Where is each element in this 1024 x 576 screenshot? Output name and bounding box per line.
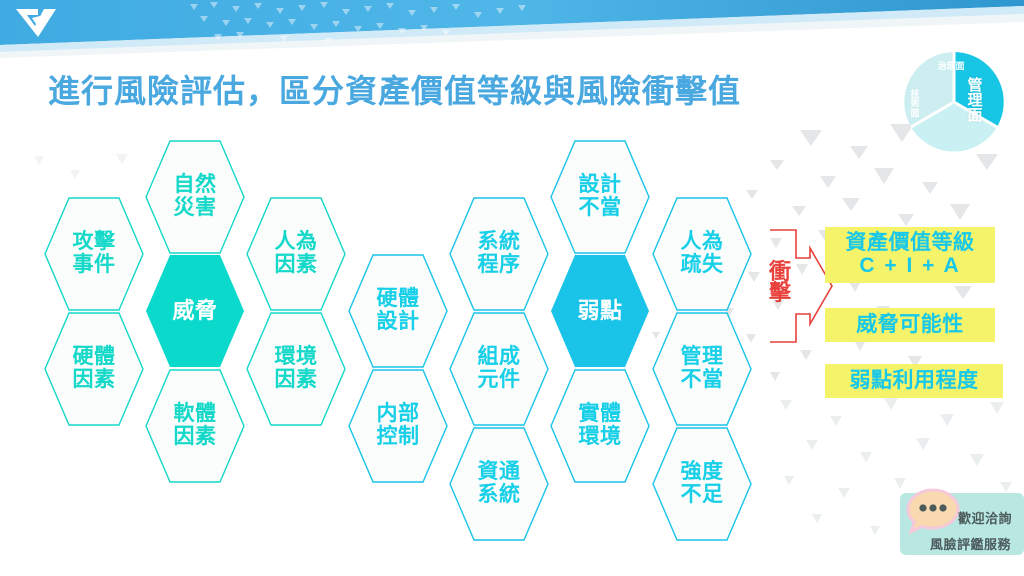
hex-label-improper-design: 設計不當 xyxy=(579,174,622,219)
hex-human-factor[interactable]: 人為因素 xyxy=(246,197,346,311)
hex-hardware-design[interactable]: 硬體設計 xyxy=(348,254,448,368)
hex-label-attack-event: 攻擊事件 xyxy=(73,231,116,276)
hex-label-natural-disaster: 自然災害 xyxy=(174,174,217,219)
hex-physical-environment[interactable]: 實體環境 xyxy=(550,369,650,483)
hex-label-internal-control: 内部控制 xyxy=(377,403,420,448)
hex-insufficient-strength[interactable]: 強度不足 xyxy=(652,427,752,541)
impact-label: 衝擊 xyxy=(768,262,792,304)
hex-label-ict-system: 資通系統 xyxy=(478,461,521,506)
outcome-box-threat-likelihood: 威脅可能性 xyxy=(825,308,995,342)
chat-bubble-icon xyxy=(905,488,961,534)
outcome-asset-value-line2: C + I + A xyxy=(859,254,960,278)
hex-label-insufficient-strength: 強度不足 xyxy=(681,461,724,506)
outcome-box-vuln-exploitability: 弱點利用程度 xyxy=(825,364,1003,398)
slide: 進行風險評估，區分資產價值等級與風險衝擊值 治理面 技術面 管理面 攻擊事件自然… xyxy=(0,0,1024,576)
outcome-asset-value-line1: 資產價值等級 xyxy=(846,231,975,254)
outcome-threat-likelihood-text: 威脅可能性 xyxy=(856,313,964,336)
hex-software-factor[interactable]: 軟體因素 xyxy=(145,369,245,483)
hex-label-human-factor: 人為因素 xyxy=(275,231,318,276)
hex-label-vulnerability-center: 弱點 xyxy=(577,299,622,323)
hex-improper-design[interactable]: 設計不當 xyxy=(550,140,650,254)
hex-natural-disaster[interactable]: 自然災害 xyxy=(145,140,245,254)
hex-label-human-negligence: 人為疏失 xyxy=(681,231,724,276)
honeycomb-diagram: 攻擊事件自然災害硬體因素威脅軟體因素人為因素環境因素硬體設計内部控制系統程序組成… xyxy=(0,0,1024,576)
hex-component[interactable]: 組成元件 xyxy=(449,312,549,426)
hex-internal-control[interactable]: 内部控制 xyxy=(348,369,448,483)
hex-environment-factor[interactable]: 環境因素 xyxy=(246,312,346,426)
hex-human-negligence[interactable]: 人為疏失 xyxy=(652,197,752,311)
hex-label-threat-center: 威脅 xyxy=(172,299,217,323)
hex-label-physical-environment: 實體環境 xyxy=(579,403,622,448)
hex-label-hardware-factor: 硬體因素 xyxy=(73,346,116,391)
hex-hardware-factor[interactable]: 硬體因素 xyxy=(44,312,144,426)
hex-label-software-factor: 軟體因素 xyxy=(174,403,217,448)
hex-system-procedure[interactable]: 系統程序 xyxy=(449,197,549,311)
hex-label-environment-factor: 環境因素 xyxy=(275,346,318,391)
badge-line-1: 歡迎洽詢 xyxy=(958,508,1012,527)
hex-label-improper-management: 管理不當 xyxy=(681,346,724,391)
hex-label-system-procedure: 系統程序 xyxy=(478,231,521,276)
outcome-vuln-exploit-text: 弱點利用程度 xyxy=(850,369,979,392)
hex-vulnerability-center[interactable]: 弱點 xyxy=(550,254,650,368)
hex-attack-event[interactable]: 攻擊事件 xyxy=(44,197,144,311)
hex-improper-management[interactable]: 管理不當 xyxy=(652,312,752,426)
outcome-box-asset-value: 資產價值等級 C + I + A xyxy=(825,227,995,283)
hex-label-component: 組成元件 xyxy=(478,346,521,391)
hex-label-hardware-design: 硬體設計 xyxy=(377,288,420,333)
hex-ict-system[interactable]: 資通系統 xyxy=(449,427,549,541)
hex-threat-center[interactable]: 威脅 xyxy=(145,254,245,368)
badge-line-2: 風臉評鑑服務 xyxy=(930,534,1011,553)
